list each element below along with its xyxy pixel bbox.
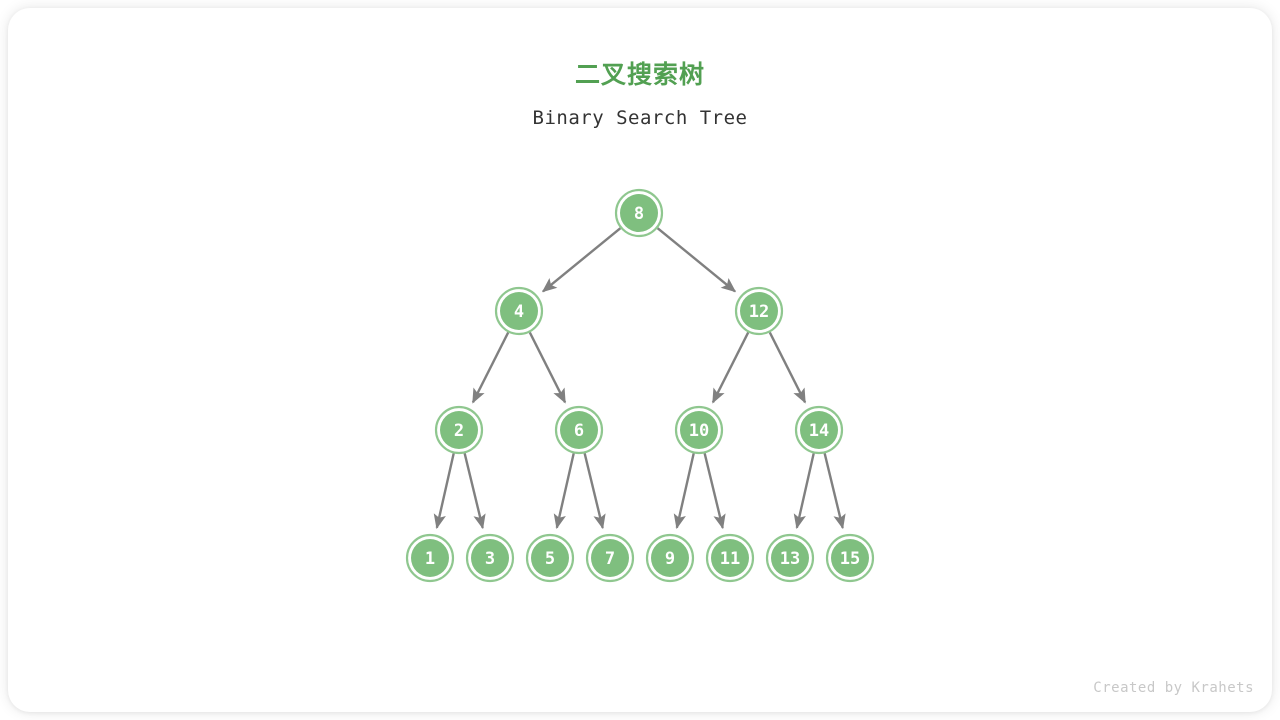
tree-node[interactable]: 14 (796, 407, 842, 453)
tree-node-circle (591, 539, 629, 577)
tree-edge (530, 332, 565, 402)
tree-node[interactable]: 2 (436, 407, 482, 453)
tree-edge (770, 332, 805, 402)
tree-edge (713, 332, 748, 402)
tree-edge (677, 453, 694, 527)
tree-node[interactable]: 4 (496, 288, 542, 334)
tree-edge (543, 228, 620, 291)
tree-edge (465, 453, 483, 528)
tree-node-circle (620, 194, 658, 232)
tree-edge (825, 453, 843, 528)
tree-node[interactable]: 6 (556, 407, 602, 453)
tree-node-circle (711, 539, 749, 577)
diagram-canvas: 二叉搜索树 Binary Search Tree 841226101413579… (0, 0, 1280, 720)
tree-edge (705, 453, 723, 528)
edge-layer (437, 228, 843, 528)
tree-node-circle (471, 539, 509, 577)
tree-node[interactable]: 13 (767, 535, 813, 581)
tree-node-circle (560, 411, 598, 449)
tree-node-circle (831, 539, 869, 577)
tree-node-circle (651, 539, 689, 577)
tree-node[interactable]: 12 (736, 288, 782, 334)
binary-search-tree-graphic: 841226101413579111315 (0, 0, 1280, 720)
tree-node-circle (771, 539, 809, 577)
node-layer: 841226101413579111315 (407, 190, 873, 581)
tree-node[interactable]: 15 (827, 535, 873, 581)
tree-node-circle (740, 292, 778, 330)
tree-node-circle (800, 411, 838, 449)
tree-node[interactable]: 7 (587, 535, 633, 581)
tree-node[interactable]: 8 (616, 190, 662, 236)
tree-node[interactable]: 9 (647, 535, 693, 581)
tree-node[interactable]: 10 (676, 407, 722, 453)
tree-edge (797, 453, 814, 527)
tree-edge (437, 453, 454, 527)
tree-node[interactable]: 1 (407, 535, 453, 581)
tree-node-circle (500, 292, 538, 330)
tree-node[interactable]: 5 (527, 535, 573, 581)
tree-edge (557, 453, 574, 527)
tree-node-circle (680, 411, 718, 449)
tree-edge (585, 453, 603, 528)
tree-node-circle (440, 411, 478, 449)
credit-label: Created by Krahets (1093, 680, 1254, 696)
tree-edge (658, 228, 735, 291)
tree-node[interactable]: 11 (707, 535, 753, 581)
tree-node-circle (411, 539, 449, 577)
tree-edge (473, 332, 508, 402)
tree-node[interactable]: 3 (467, 535, 513, 581)
tree-node-circle (531, 539, 569, 577)
